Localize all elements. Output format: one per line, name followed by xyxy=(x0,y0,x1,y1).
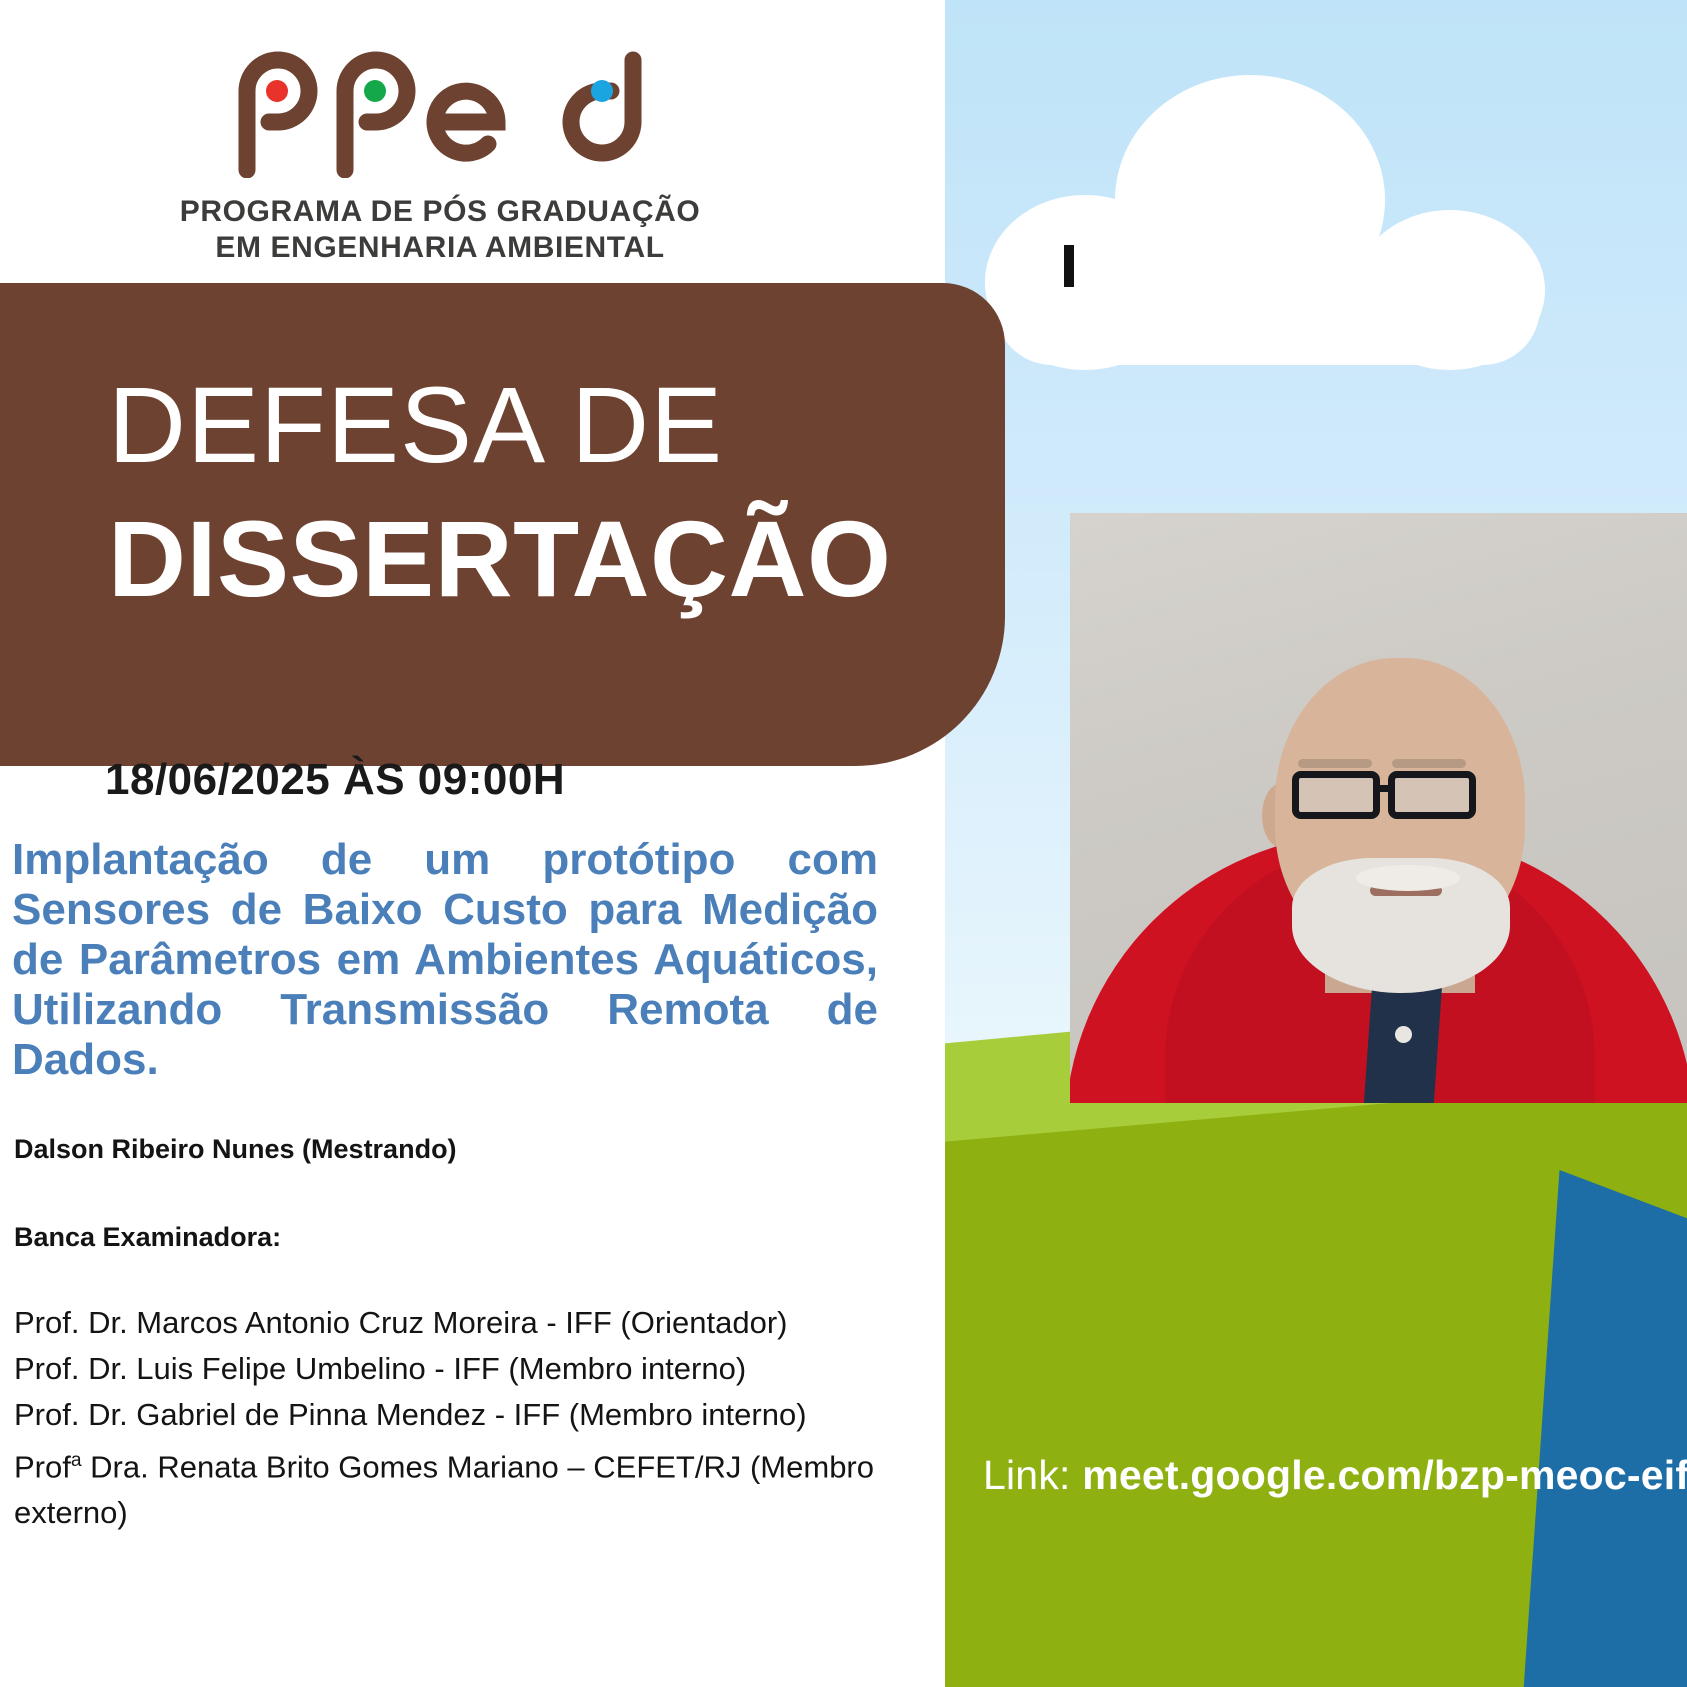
committee-heading: Banca Examinadora: xyxy=(14,1222,281,1253)
obscured-text-fragment xyxy=(1064,245,1074,287)
committee-member: Prof. Dr. Marcos Antonio Cruz Moreira - … xyxy=(14,1300,944,1346)
ppea-wordmark-icon xyxy=(225,38,655,178)
background-scene: Link: meet.google.com/bzp-meoc-eif xyxy=(945,0,1687,1687)
photo-brow-left xyxy=(1298,759,1372,768)
committee-list: Prof. Dr. Marcos Antonio Cruz Moreira - … xyxy=(14,1300,944,1536)
committee-member: Prof. Dr. Gabriel de Pinna Mendez - IFF … xyxy=(14,1392,814,1438)
meeting-link[interactable]: Link: meet.google.com/bzp-meoc-eif xyxy=(945,1440,1687,1510)
dissertation-title: Implantação de um protótipo com Sensores… xyxy=(12,835,878,1085)
logo-subtitle-line2: EM ENGENHARIA AMBIENTAL xyxy=(0,230,880,266)
photo-brow-right xyxy=(1392,759,1466,768)
photo-glasses-bridge xyxy=(1378,785,1392,792)
committee-member: Profa Dra. Renata Brito Gomes Mariano – … xyxy=(14,1438,894,1536)
link-label: Link: xyxy=(983,1452,1071,1498)
cloud-icon xyxy=(985,75,1545,365)
banner-line-2: DISSERTAÇÃO xyxy=(108,507,892,611)
photo-mustache xyxy=(1356,865,1460,891)
photo-button xyxy=(1395,1026,1412,1043)
photo-glasses-left xyxy=(1292,771,1380,819)
link-url[interactable]: meet.google.com/bzp-meoc-eif xyxy=(1082,1452,1687,1498)
photo-glasses-right xyxy=(1388,771,1476,819)
content-column: PROGRAMA DE PÓS GRADUAÇÃO EM ENGENHARIA … xyxy=(0,0,945,1687)
defense-banner: DEFESA DE DISSERTAÇÃO xyxy=(0,283,1005,766)
student-name: Dalson Ribeiro Nunes (Mestrando) xyxy=(14,1134,457,1165)
candidate-photo xyxy=(1070,513,1687,1103)
event-datetime: 18/06/2025 ÀS 09:00H xyxy=(105,755,565,805)
banner-line-1: DEFESA DE xyxy=(108,373,723,477)
logo-subtitle-line1: PROGRAMA DE PÓS GRADUAÇÃO xyxy=(0,194,880,230)
committee-member: Prof. Dr. Luis Felipe Umbelino - IFF (Me… xyxy=(14,1346,944,1392)
ppea-logo: PROGRAMA DE PÓS GRADUAÇÃO EM ENGENHARIA … xyxy=(0,38,880,266)
